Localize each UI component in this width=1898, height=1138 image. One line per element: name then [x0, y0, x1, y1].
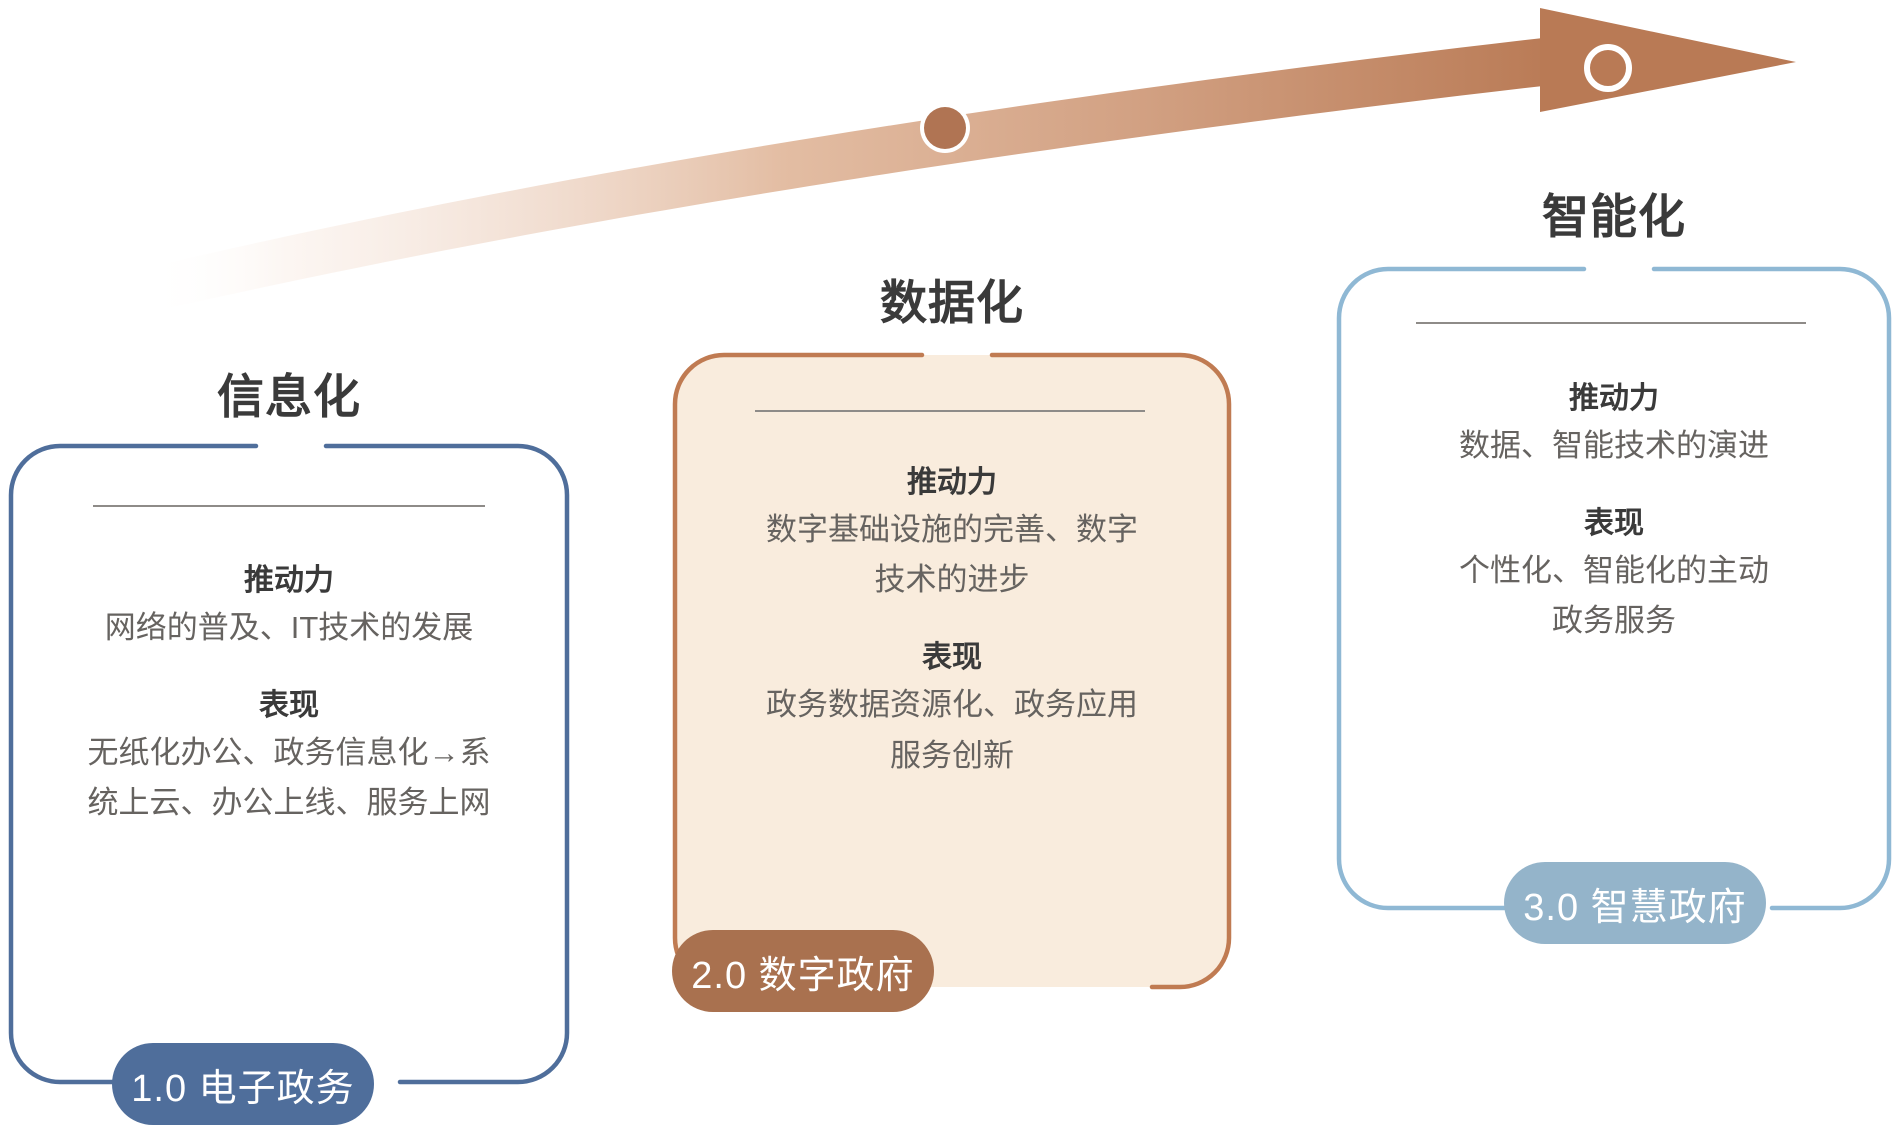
stage-badge-1[interactable]: 1.0 电子政务 [112, 1043, 374, 1125]
stage-title-2: 数据化 [672, 264, 1232, 333]
section-text-manifest-3-line-1: 政务服务 [1336, 596, 1892, 646]
section-text-manifest-1-line-0: 无纸化办公、政务信息化→系 [8, 728, 570, 778]
stage-badge-label-1: 1.0 电子政务 [131, 1057, 354, 1112]
stage-title-rule-1 [93, 505, 485, 507]
infographic-canvas: 信息化 推动力 网络的普及、IT技术的发展 表现 无纸化办公、政务信息化→系 统… [0, 0, 1898, 1138]
stage-title-3: 智能化 [1336, 178, 1892, 247]
stage-card-3[interactable]: 智能化 推动力 数据、智能技术的演进 表现 个性化、智能化的主动 政务服务 3.… [1336, 266, 1892, 914]
stage-body-1: 推动力 网络的普及、IT技术的发展 表现 无纸化办公、政务信息化→系 统上云、办… [8, 558, 570, 829]
section-text-driver-1-line-0: 网络的普及、IT技术的发展 [8, 603, 570, 653]
section-label-manifest-3: 表现 [1336, 501, 1892, 546]
section-text-driver-3-line-0: 数据、智能技术的演进 [1336, 421, 1892, 471]
stage-title-rule-2 [755, 410, 1145, 412]
milestone-marker-hollow [1587, 47, 1629, 89]
stage-card-1[interactable]: 信息化 推动力 网络的普及、IT技术的发展 表现 无纸化办公、政务信息化→系 统… [8, 443, 570, 1088]
spacer [672, 605, 1232, 635]
stage-badge-label-2: 2.0 数字政府 [691, 944, 914, 999]
stage-badge-2[interactable]: 2.0 数字政府 [672, 930, 934, 1012]
section-label-driver-1: 推动力 [8, 558, 570, 603]
section-text-driver-2-line-1: 技术的进步 [672, 555, 1232, 605]
milestone-marker-filled-ring [920, 103, 970, 153]
section-label-driver-3: 推动力 [1336, 376, 1892, 421]
section-label-manifest-1: 表现 [8, 683, 570, 728]
stage-badge-label-3: 3.0 智慧政府 [1523, 876, 1746, 931]
section-label-manifest-2: 表现 [672, 635, 1232, 680]
arrow-head [1540, 8, 1796, 112]
stage-body-2: 推动力 数字基础设施的完善、数字 技术的进步 表现 政务数据资源化、政务应用 服… [672, 460, 1232, 781]
stage-card-2[interactable]: 数据化 推动力 数字基础设施的完善、数字 技术的进步 表现 政务数据资源化、政务… [672, 352, 1232, 990]
stage-body-3: 推动力 数据、智能技术的演进 表现 个性化、智能化的主动 政务服务 [1336, 376, 1892, 647]
section-text-manifest-3-line-0: 个性化、智能化的主动 [1336, 546, 1892, 596]
spacer [8, 653, 570, 683]
spacer [1336, 471, 1892, 501]
section-text-manifest-1-line-1: 统上云、办公上线、服务上网 [8, 778, 570, 828]
section-text-driver-2-line-0: 数字基础设施的完善、数字 [672, 505, 1232, 555]
stage-title-rule-3 [1416, 322, 1806, 324]
stage-badge-3[interactable]: 3.0 智慧政府 [1504, 862, 1766, 944]
stage-title-1: 信息化 [8, 358, 570, 427]
milestone-marker-filled [924, 107, 966, 149]
section-text-manifest-2-line-0: 政务数据资源化、政务应用 [672, 680, 1232, 730]
section-text-manifest-2-line-1: 服务创新 [672, 731, 1232, 781]
section-label-driver-2: 推动力 [672, 460, 1232, 505]
